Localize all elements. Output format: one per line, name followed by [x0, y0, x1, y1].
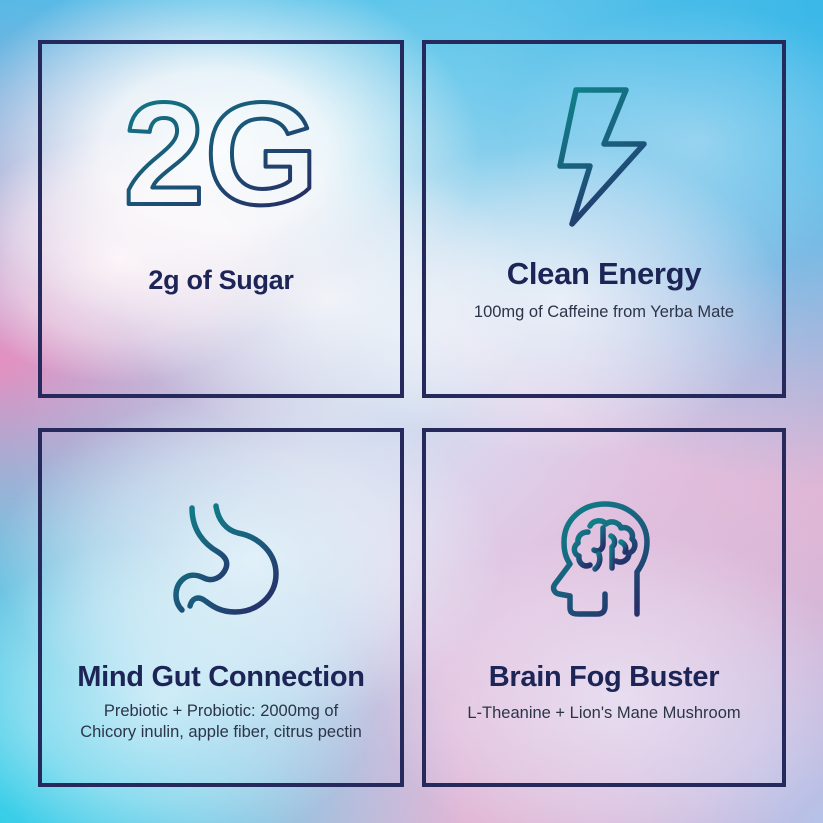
svg-text:2G: 2G: [124, 92, 319, 222]
card-title: Brain Fog Buster: [489, 662, 719, 692]
benefit-card-brain-fog[interactable]: Brain Fog Buster L-Theanine + Lion's Man…: [422, 428, 786, 787]
head-brain-icon: [426, 432, 782, 644]
card-subtitle: Prebiotic + Probiotic: 2000mg of Chicory…: [72, 701, 370, 743]
benefit-card-mind-gut[interactable]: Mind Gut Connection Prebiotic + Probioti…: [38, 428, 404, 787]
card-title: 2g of Sugar: [148, 266, 293, 294]
benefits-grid: 2G 2g of Sugar C: [0, 0, 823, 823]
card-title: Mind Gut Connection: [77, 662, 364, 692]
lightning-bolt-icon: [426, 44, 782, 252]
card-title: Clean Energy: [507, 258, 702, 291]
benefit-card-clean-energy[interactable]: Clean Energy 100mg of Caffeine from Yerb…: [422, 40, 786, 398]
stomach-icon: [42, 432, 400, 644]
card-subtitle-line1: Prebiotic + Probiotic: 2000mg of: [104, 702, 338, 720]
card-subtitle-line2: Chicory inulin, apple fiber, citrus pect…: [80, 723, 362, 741]
2g-outline-icon: 2G: [42, 44, 400, 252]
card-subtitle: L-Theanine + Lion's Mane Mushroom: [459, 703, 748, 724]
card-subtitle: 100mg of Caffeine from Yerba Mate: [466, 302, 742, 323]
benefit-card-sugar[interactable]: 2G 2g of Sugar: [38, 40, 404, 398]
